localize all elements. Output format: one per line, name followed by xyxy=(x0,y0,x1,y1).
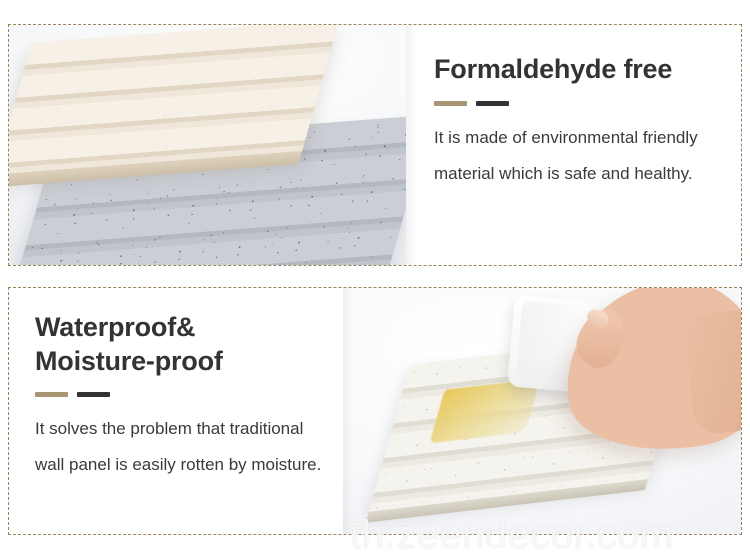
feature-image-waterproof-moisture-proof xyxy=(343,288,741,534)
divider-dash-tan xyxy=(35,392,68,397)
title-divider xyxy=(35,392,323,397)
hand-wiping-panel-photo xyxy=(343,288,741,534)
feature-image-formaldehyde-free xyxy=(9,25,406,265)
divider-dash-tan xyxy=(434,101,467,106)
divider-dash-dark xyxy=(476,101,509,106)
feature-panel-formaldehyde-free: Formaldehyde free It is made of environm… xyxy=(8,24,742,266)
wall-panel-stack-photo xyxy=(9,25,406,265)
feature-copy-waterproof-moisture-proof: Waterproof& Moisture-proof It solves the… xyxy=(9,288,343,534)
feature-description: It solves the problem that traditional w… xyxy=(35,411,323,483)
feature-title: Formaldehyde free xyxy=(434,53,715,85)
feature-description: It is made of environmental friendly mat… xyxy=(434,120,715,192)
title-divider xyxy=(434,101,715,106)
feature-copy-formaldehyde-free: Formaldehyde free It is made of environm… xyxy=(406,25,741,265)
feature-title: Waterproof& Moisture-proof xyxy=(35,310,323,378)
divider-dash-dark xyxy=(77,392,110,397)
cream-fluted-panel xyxy=(9,25,340,175)
feature-page: Formaldehyde free It is made of environm… xyxy=(0,0,750,559)
feature-panel-waterproof-moisture-proof: Waterproof& Moisture-proof It solves the… xyxy=(8,287,742,535)
